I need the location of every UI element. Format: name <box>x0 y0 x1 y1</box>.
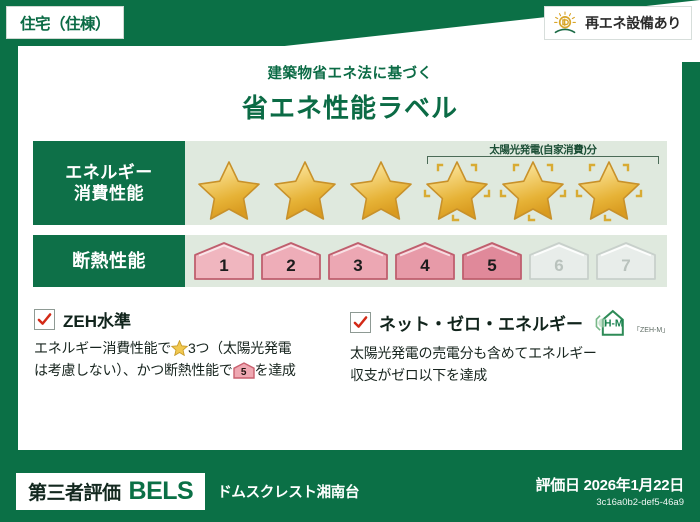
star-5 <box>495 156 571 222</box>
star-6 <box>571 156 647 222</box>
insulation-grade-value: 3 <box>353 256 362 276</box>
zeh-description: エネルギー消費性能で3つ（太陽光発電は考慮しない）、かつ断熱性能で5を達成 <box>34 338 332 381</box>
insulation-row-label: 断熱性能 <box>33 235 185 287</box>
inline-grade-badge: 5 <box>233 362 255 379</box>
energy-performance-row: エネルギー 消費性能 太陽光発電(自家消費)分 <box>33 141 667 225</box>
zeh-checkbox <box>34 309 55 330</box>
star-icon <box>270 156 340 222</box>
insulation-grade-value: 5 <box>487 256 496 276</box>
energy-row-label: エネルギー 消費性能 <box>33 141 185 225</box>
evaluation-date-value: 2026年1月22日 <box>584 477 684 494</box>
zeh-m-caption: 「ZEH-M」 <box>633 325 669 335</box>
solar-star-icon <box>498 156 568 222</box>
insulation-grade-value: 4 <box>420 256 429 276</box>
insulation-grade-5: 5 <box>461 241 523 281</box>
net-zero-checkbox <box>350 312 371 333</box>
zeh-m-house-icon: H-M <box>591 307 631 337</box>
insulation-grade-3: 3 <box>327 241 389 281</box>
performance-rows: エネルギー 消費性能 太陽光発電(自家消費)分 断熱性能 1234567 <box>18 141 682 287</box>
inline-grade-value: 5 <box>233 365 255 381</box>
building-type-tab: 住宅（住棟） <box>6 6 124 39</box>
renewable-equipment-badge: 再エネ設備あり <box>544 6 692 40</box>
star-icon <box>194 156 264 222</box>
bels-energy-label: 住宅（住棟） 再エネ設備あり 建築物省エネ法に基づく 省エネ性能ラベル <box>0 0 700 522</box>
net-zero-text-line1: 太陽光発電の売電分も含めてエネルギー <box>350 345 597 361</box>
bels-en-label: BELS <box>129 477 194 506</box>
inline-star-icon <box>171 340 188 356</box>
solar-star-icon <box>422 156 492 222</box>
title-main: 省エネ性能ラベル <box>18 88 682 125</box>
net-zero-text-line2: 収支がゼロ以下を達成 <box>350 367 487 383</box>
zeh-text-part3: は考慮しない）、かつ断熱性能で <box>34 362 233 378</box>
criterion-net-zero-header: ネット・ゼロ・エネルギー H-M 「ZEH-M」 <box>350 307 666 337</box>
footer-right-block: 評価日 2026年1月22日 3c16a0b2-def5-46a9 <box>536 474 684 508</box>
evaluation-date: 評価日 2026年1月22日 <box>536 474 684 495</box>
label-card: 建築物省エネ法に基づく 省エネ性能ラベル エネルギー 消費性能 太陽光発電(自家… <box>18 46 682 450</box>
insulation-grade-value: 6 <box>554 256 563 276</box>
criterion-zeh: ZEH水準 エネルギー消費性能で3つ（太陽光発電は考慮しない）、かつ断熱性能で5… <box>34 307 332 386</box>
zeh-text-part1: エネルギー消費性能で <box>34 340 171 356</box>
net-zero-description: 太陽光発電の売電分も含めてエネルギー収支がゼロ以下を達成 <box>350 343 666 386</box>
star-1 <box>191 156 267 222</box>
title-subtitle: 建築物省エネ法に基づく <box>18 62 682 83</box>
criteria-section: ZEH水準 エネルギー消費性能で3つ（太陽光発電は考慮しない）、かつ断熱性能で5… <box>18 297 682 386</box>
title-block: 建築物省エネ法に基づく 省エネ性能ラベル <box>18 46 682 125</box>
star-4 <box>419 156 495 222</box>
zeh-m-logo: H-M 「ZEH-M」 <box>591 307 669 337</box>
insulation-grade-6: 6 <box>528 241 590 281</box>
solar-star-icon <box>574 156 644 222</box>
star-2 <box>267 156 343 222</box>
energy-row-body: 太陽光発電(自家消費)分 <box>185 141 667 225</box>
insulation-grade-value: 1 <box>219 256 228 276</box>
svg-text:H-M: H-M <box>604 319 623 330</box>
insulation-grade-scale: 1234567 <box>193 241 657 281</box>
building-type-label: 住宅（住棟） <box>20 12 110 34</box>
bels-jp-label: 第三者評価 <box>28 478 121 505</box>
insulation-grade-7: 7 <box>595 241 657 281</box>
renewable-badge-label: 再エネ設備あり <box>585 13 681 33</box>
insulation-grade-4: 4 <box>394 241 456 281</box>
bels-certification-box: 第三者評価 BELS <box>16 473 205 510</box>
property-name: ドムスクレスト湘南台 <box>217 481 359 502</box>
check-icon <box>37 312 52 327</box>
zeh-text-part2: 3つ（太陽光発電 <box>188 340 291 356</box>
energy-label-line2: 消費性能 <box>74 183 144 204</box>
insulation-performance-row: 断熱性能 1234567 <box>33 235 667 287</box>
insulation-grade-value: 2 <box>286 256 295 276</box>
footer-bar: 第三者評価 BELS ドムスクレスト湘南台 評価日 2026年1月22日 3c1… <box>0 460 700 522</box>
insulation-row-body: 1234567 <box>185 235 667 287</box>
insulation-label: 断熱性能 <box>72 250 146 273</box>
solar-sun-icon <box>552 11 578 35</box>
star-rating <box>191 155 673 223</box>
zeh-title: ZEH水準 <box>63 307 131 332</box>
evaluation-id: 3c16a0b2-def5-46a9 <box>536 497 684 508</box>
check-icon <box>353 315 368 330</box>
star-icon <box>346 156 416 222</box>
criterion-net-zero: ネット・ゼロ・エネルギー H-M 「ZEH-M」 太陽光発電の売電分も含めてエネ… <box>350 307 666 386</box>
insulation-grade-value: 7 <box>621 256 630 276</box>
zeh-text-part4: を達成 <box>255 362 296 378</box>
star-3 <box>343 156 419 222</box>
energy-label-line1: エネルギー <box>65 162 153 183</box>
evaluation-date-label: 評価日 <box>536 477 580 494</box>
insulation-grade-1: 1 <box>193 241 255 281</box>
insulation-grade-2: 2 <box>260 241 322 281</box>
net-zero-title: ネット・ゼロ・エネルギー <box>379 310 583 335</box>
criterion-zeh-header: ZEH水準 <box>34 307 332 332</box>
